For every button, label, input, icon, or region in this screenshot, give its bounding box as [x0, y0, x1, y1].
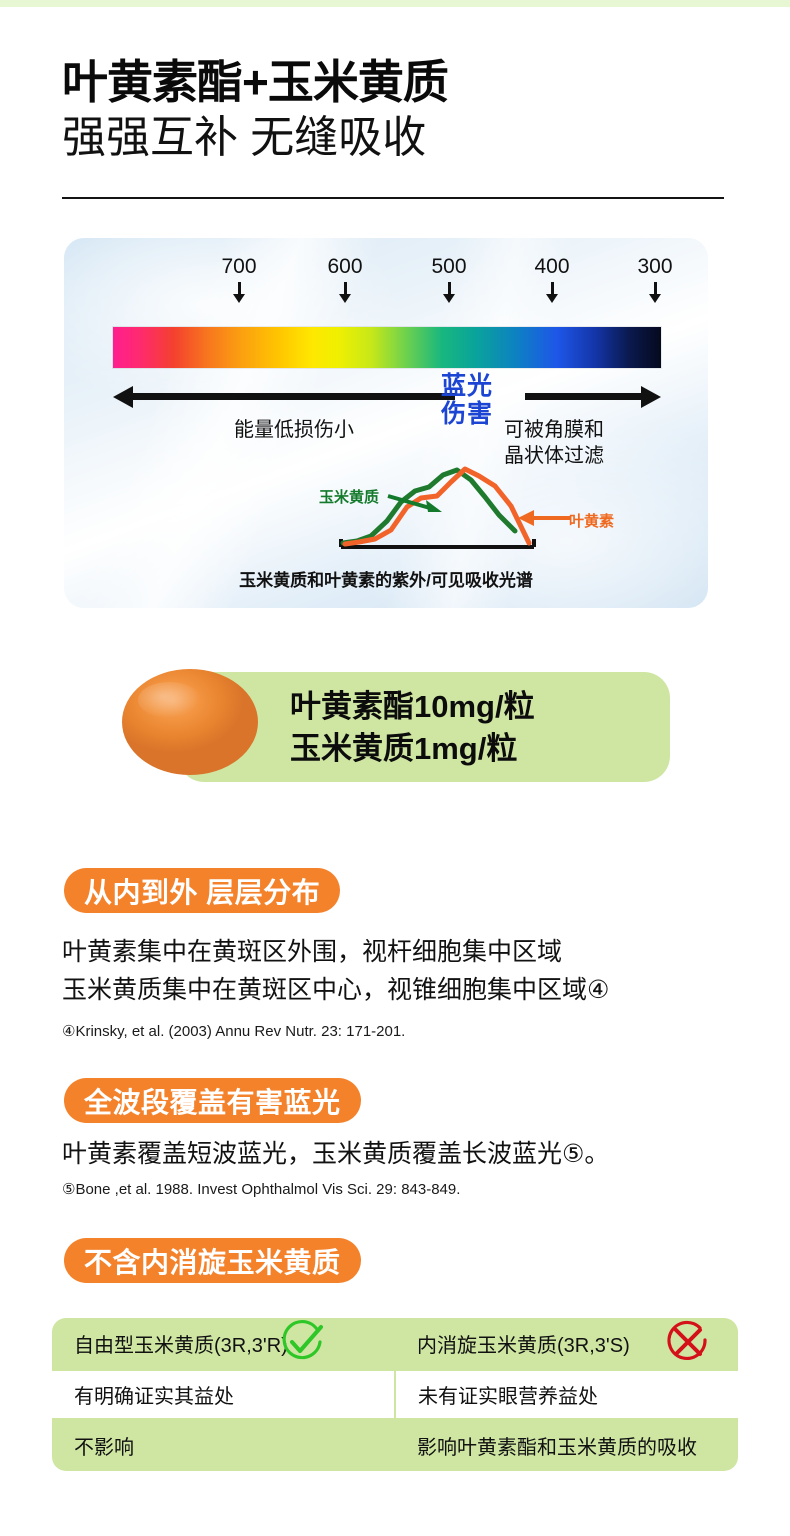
cell-free-zeaxanthin: 自由型玉米黄质(3R,3'R)	[52, 1318, 395, 1369]
cornea-filter-line1: 可被角膜和	[504, 418, 684, 444]
section-badge-distribution: 从内到外 层层分布	[64, 868, 340, 913]
cell-no-effect: 不影响	[52, 1420, 395, 1471]
section-badge-no-meso: 不含内消旋玉米黄质	[64, 1238, 361, 1283]
wavelength-tick-700: 700	[204, 256, 274, 282]
left-direction-line	[131, 393, 455, 400]
section1-citation: ④Krinsky, et al. (2003) Annu Rev Nutr. 2…	[62, 1022, 405, 1040]
page-title: 叶黄素酯+玉米黄质 强强互补 无缝吸收	[62, 58, 762, 163]
direction-arrows	[113, 386, 661, 412]
low-energy-caption: 能量低损伤小	[184, 418, 404, 443]
headline-secondary: 强强互补 无缝吸收	[62, 112, 762, 163]
curve-caption: 玉米黄质和叶黄素的紫外/可见吸收光谱	[64, 566, 708, 591]
section1-body-line1: 叶黄素集中在黄斑区外围，视杆细胞集中区域	[62, 935, 562, 971]
product-detail-page: 叶黄素酯+玉米黄质 强强互补 无缝吸收 700 600 500 400	[0, 0, 790, 1536]
cell-affects-absorption: 影响叶黄素酯和玉米黄质的吸收	[395, 1420, 738, 1471]
top-accent-strip	[0, 0, 790, 7]
cross-circle-icon	[664, 1318, 712, 1366]
section2-citation: ⑤Bone ,et al. 1988. Invest Ophthalmol Vi…	[62, 1180, 460, 1198]
right-direction-line	[525, 393, 643, 400]
spectrum-diagram-panel: 700 600 500 400 300	[64, 238, 708, 608]
cell-benefit-proven: 有明确证实其益处	[52, 1371, 394, 1418]
dosage-line-1: 叶黄素酯10mg/粒	[290, 686, 670, 728]
zeaxanthin-text: 玉米黄质	[319, 489, 379, 506]
dosage-line-2: 玉米黄质1mg/粒	[290, 728, 670, 770]
table-row: 自由型玉米黄质(3R,3'R) 内消旋玉米黄质(3R,3'S)	[52, 1318, 738, 1369]
comparison-table: 自由型玉米黄质(3R,3'R) 内消旋玉米黄质(3R,3'S) 有明确证实其益处…	[52, 1318, 738, 1471]
tick-label: 500	[414, 256, 484, 277]
check-circle-icon	[278, 1318, 326, 1366]
zeaxanthin-pointer-arrow-icon	[386, 490, 450, 516]
visible-spectrum-bar	[113, 327, 661, 368]
table-row: 有明确证实其益处 未有证实眼营养益处	[52, 1369, 738, 1420]
lutein-pointer-arrow-icon	[516, 506, 572, 530]
section1-body-line2: 玉米黄质集中在黄斑区中心，视锥细胞集中区域④	[62, 973, 609, 1009]
title-divider	[62, 197, 724, 199]
cell-benefit-unproven: 未有证实眼营养益处	[396, 1371, 738, 1418]
wavelength-tick-row: 700 600 500 400 300	[64, 256, 708, 318]
curve-label-zeaxanthin: 玉米黄质	[319, 486, 379, 507]
left-arrow-icon	[113, 386, 133, 408]
curve-label-lutein: 叶黄素	[569, 510, 614, 531]
wavelength-tick-600: 600	[310, 256, 380, 282]
section-badge-bluelight: 全波段覆盖有害蓝光	[64, 1078, 361, 1123]
blue-harm-line1: 蓝光	[419, 372, 515, 400]
blue-light-harm-label: 蓝光 伤害	[419, 372, 515, 428]
wavelength-tick-300: 300	[620, 256, 690, 282]
wavelength-tick-500: 500	[414, 256, 484, 282]
wavelength-tick-400: 400	[517, 256, 587, 282]
right-arrow-icon	[641, 386, 661, 408]
lutein-text: 叶黄素	[569, 513, 614, 530]
dosage-text: 叶黄素酯10mg/粒 玉米黄质1mg/粒	[290, 686, 670, 770]
tick-label: 700	[204, 256, 274, 277]
tick-label: 300	[620, 256, 690, 277]
blue-harm-line2: 伤害	[419, 400, 515, 428]
headline-primary: 叶黄素酯+玉米黄质	[62, 58, 762, 108]
table-row: 不影响 影响叶黄素酯和玉米黄质的吸收	[52, 1420, 738, 1471]
tick-label: 600	[310, 256, 380, 277]
tick-label: 400	[517, 256, 587, 277]
softgel-capsule-icon	[122, 669, 258, 775]
section2-body-line1: 叶黄素覆盖短波蓝光，玉米黄质覆盖长波蓝光⑤。	[62, 1137, 609, 1173]
